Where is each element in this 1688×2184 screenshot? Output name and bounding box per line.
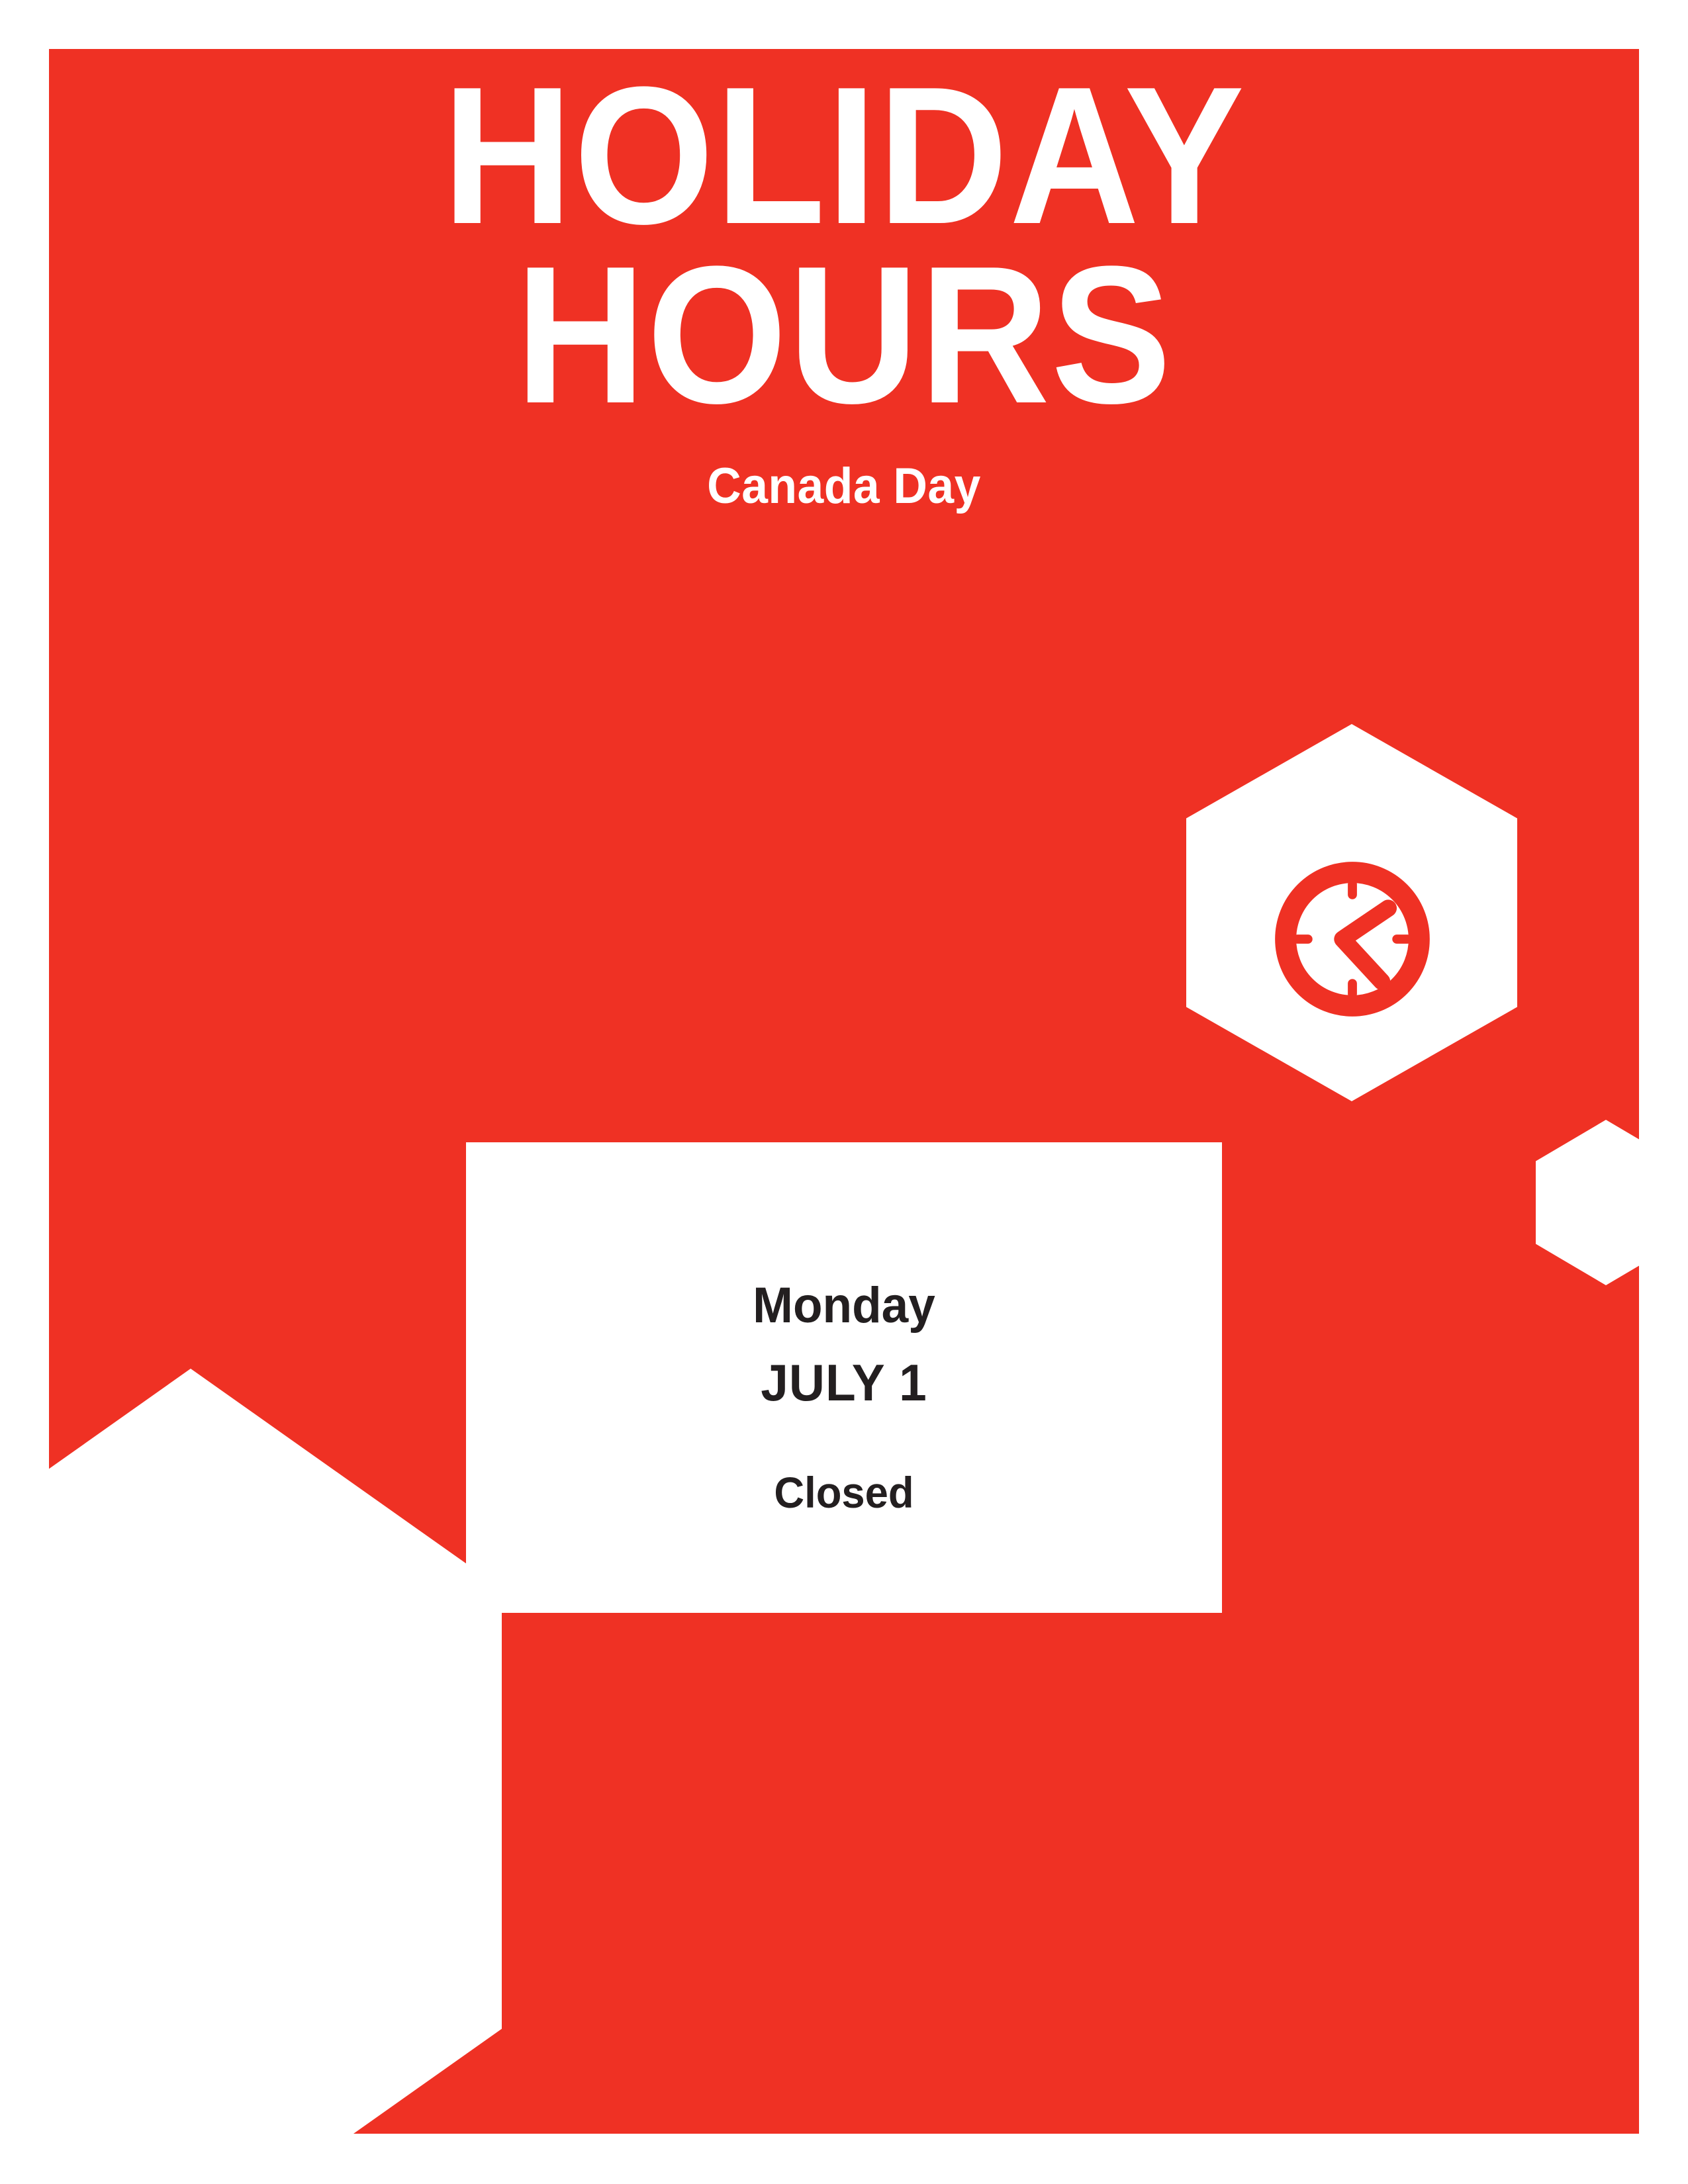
- poster-heading: HOLIDAY HOURS Canada Day: [49, 49, 1639, 512]
- clock-icon: [1271, 858, 1434, 1021]
- holiday-info-card: Monday JULY 1 Closed: [466, 1142, 1222, 1613]
- poster-canvas: HOLIDAY HOURS Canada Day Monday JULY 1 C…: [49, 49, 1639, 2134]
- holiday-info-card-content: Monday JULY 1 Closed: [466, 1142, 1222, 1514]
- poster-subtitle: Canada Day: [97, 461, 1591, 512]
- info-card-day: Monday: [481, 1280, 1207, 1332]
- page-title-line-1: HOLIDAY: [113, 75, 1575, 236]
- page-title-line-2: HOURS: [113, 255, 1575, 416]
- info-card-status: Closed: [481, 1471, 1207, 1514]
- hexagon-large-shape: [49, 1369, 502, 2134]
- hexagon-small-shape: [1536, 1120, 1639, 1285]
- info-card-date: JULY 1: [481, 1357, 1207, 1408]
